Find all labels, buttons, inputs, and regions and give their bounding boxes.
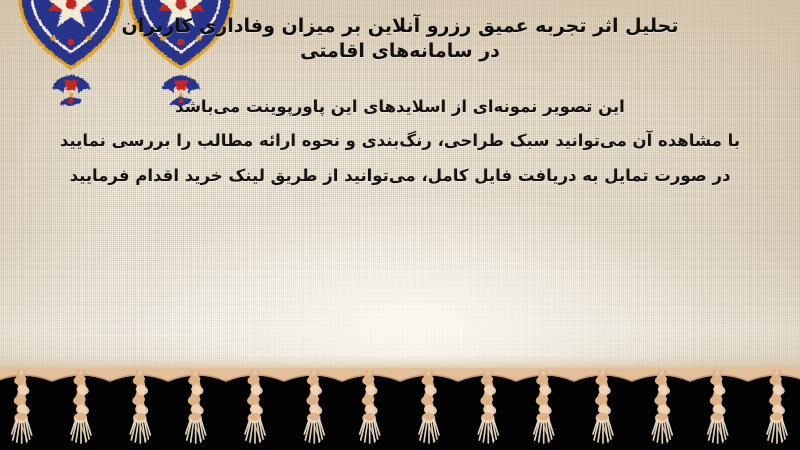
slide-body-block: این تصویر نمونه‌ای از اسلایدهای این پاور… <box>18 96 782 186</box>
fringe-tassel <box>124 370 154 444</box>
fringe-tassel <box>472 370 502 444</box>
slide-title: تحلیل اثر تجربه عمیق رزرو آنلاین بر میزا… <box>108 14 692 65</box>
presentation-slide: تحلیل اثر تجربه عمیق رزرو آنلاین بر میزا… <box>0 0 800 450</box>
fringe-tassel <box>646 370 676 444</box>
fringe-tassel <box>588 370 618 444</box>
body-line-3: در صورت تمایل به دریافت فایل کامل، می‌تو… <box>50 165 750 186</box>
body-line-1: این تصویر نمونه‌ای از اسلایدهای این پاور… <box>50 96 750 117</box>
fringe-top-cord-icon <box>0 368 800 384</box>
fringe-tassel <box>530 370 560 444</box>
body-line-2: با مشاهده آن می‌توانید سبک طراحی، رنگ‌بن… <box>50 130 750 151</box>
fringe-tassel <box>298 370 328 444</box>
slide-text-layer: تحلیل اثر تجربه عمیق رزرو آنلاین بر میزا… <box>0 0 800 378</box>
fringe-tassel <box>356 370 386 444</box>
fringe-tassel <box>240 370 270 444</box>
fringe-tassel <box>762 370 792 444</box>
fringe-tassel <box>182 370 212 444</box>
carpet-fringe-band <box>0 368 800 450</box>
fringe-tassel <box>8 370 38 444</box>
fringe-tassel <box>66 370 96 444</box>
fringe-tassel <box>704 370 734 444</box>
fringe-tassel <box>414 370 444 444</box>
